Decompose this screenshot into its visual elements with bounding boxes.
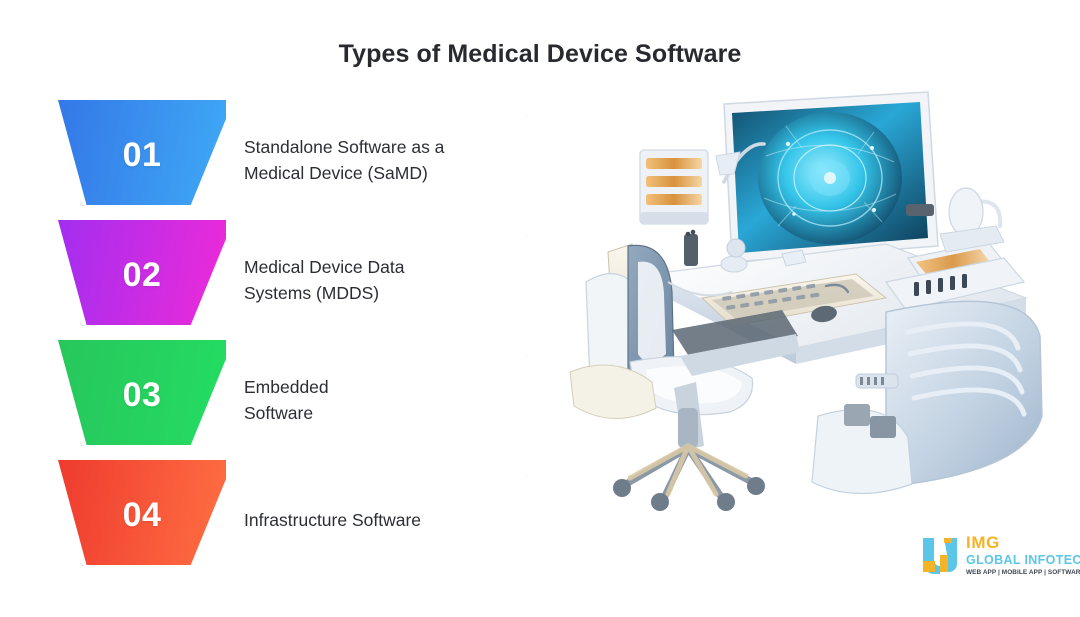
list-item[interactable]: Standalone Software as a Medical Device … [58, 100, 528, 220]
company-logo: IMG GLOBAL INFOTECH WEB APP | MOBILE APP… [920, 533, 1068, 585]
logo-company: GLOBAL INFOTECH [966, 553, 1070, 569]
list-item-line-1: Medical Device Data [244, 254, 516, 280]
medical-workstation-illustration [556, 86, 1064, 536]
list-item-line-2: Software [244, 400, 516, 426]
list-item-line-2: Medical Device (SaMD) [244, 160, 516, 186]
logo-mark-icon [920, 535, 960, 575]
logo-text: IMG GLOBAL INFOTECH WEB APP | MOBILE APP… [966, 533, 1070, 578]
list-item[interactable]: Infrastructure Software 04 [58, 460, 528, 580]
list-item-text: Embedded Software [244, 354, 516, 446]
logo-tagline: WEB APP | MOBILE APP | SOFTWARE [966, 568, 1070, 578]
software-types-list: Standalone Software as a Medical Device … [58, 100, 528, 580]
xray-viewer-panel [640, 150, 708, 224]
list-item-line-2: Systems (MDDS) [244, 280, 516, 306]
under-desk-tray [672, 310, 800, 376]
list-item-text: Standalone Software as a Medical Device … [244, 114, 516, 206]
logo-brand: IMG [966, 533, 1070, 553]
list-item-line-1: Infrastructure Software [244, 507, 516, 533]
list-item-line-1: Standalone Software as a [244, 134, 516, 160]
page-title: Types of Medical Device Software [0, 40, 1080, 69]
list-item-line-1: Embedded [244, 374, 516, 400]
list-item-text: Infrastructure Software [244, 474, 516, 566]
infographic-page: Types of Medical Device Software Standal… [0, 0, 1080, 617]
list-item[interactable]: Embedded Software 03 [58, 340, 528, 460]
list-item[interactable]: Medical Device Data Systems (MDDS) 02 [58, 220, 528, 340]
list-item-text: Medical Device Data Systems (MDDS) [244, 234, 516, 326]
